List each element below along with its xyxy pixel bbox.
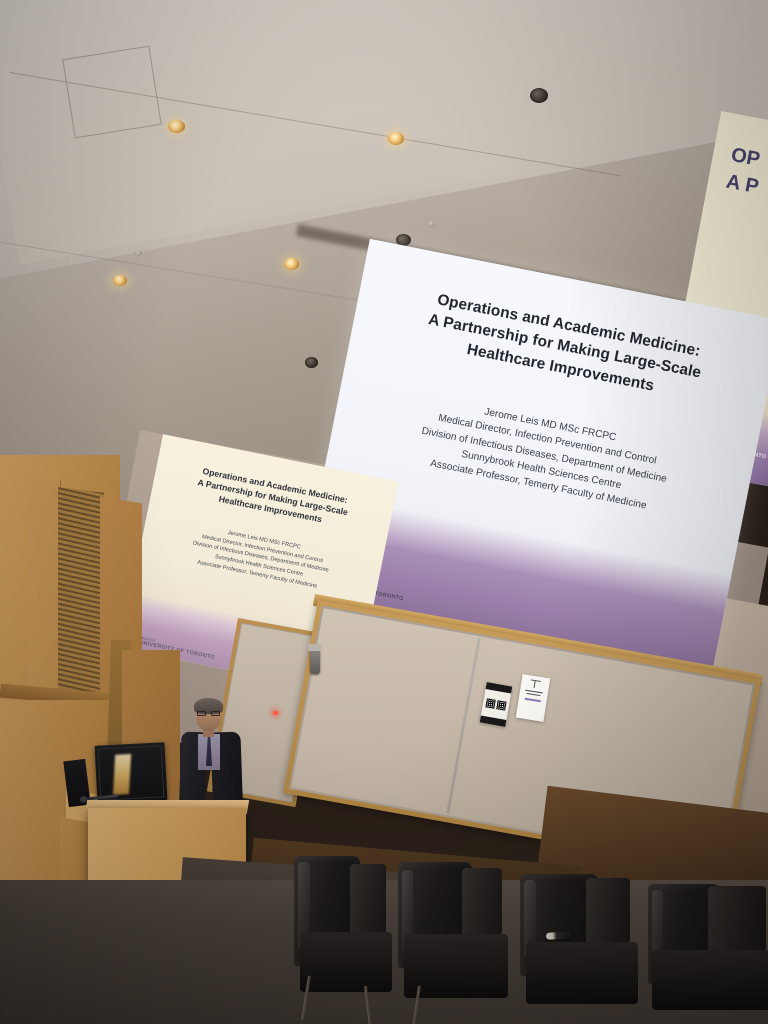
acoustic-grille-panel xyxy=(58,487,104,701)
ceiling-pot-light-on xyxy=(284,258,299,270)
monitor-screen-glare xyxy=(113,754,131,795)
left-slide-subtitle: Jerome Leis MD MSc FRCPC Medical Directo… xyxy=(160,517,361,598)
ceiling-pot-light-dim xyxy=(427,220,435,227)
ceiling-pot-light-on xyxy=(168,120,185,133)
qr-code-icon xyxy=(496,700,506,710)
lecture-hall-photo: OP A P Medicine UNIVERSITY OF TORONTO Op… xyxy=(0,0,768,1024)
ceiling-pot-light-off xyxy=(305,357,318,368)
armchair[interactable] xyxy=(648,884,768,1024)
ceiling-pot-light-on xyxy=(388,132,404,145)
chair-seat xyxy=(652,950,768,1010)
poster-text-line xyxy=(527,693,541,697)
ceiling-pot-light-on xyxy=(113,275,127,286)
whiteboard-panel-divider xyxy=(446,638,480,814)
eyeglasses-icon xyxy=(197,711,220,716)
chair-seat xyxy=(300,932,392,992)
ceiling-access-panel xyxy=(62,46,161,139)
ceiling-pot-light-dim xyxy=(134,250,142,256)
qr-code-icon xyxy=(485,698,495,708)
poster-footer-rule xyxy=(525,698,540,702)
right-slide-title-fragment: OP A P xyxy=(724,142,768,228)
chair-seat xyxy=(526,942,638,1004)
ceiling-pot-light-off xyxy=(530,88,548,103)
av-camera-mount-icon xyxy=(310,648,320,674)
red-indicator-light-icon xyxy=(273,711,278,715)
poster-logo-icon xyxy=(530,679,541,688)
slide-subtitle: Jerome Leis MD MSc FRCPC Medical Directo… xyxy=(367,384,721,526)
